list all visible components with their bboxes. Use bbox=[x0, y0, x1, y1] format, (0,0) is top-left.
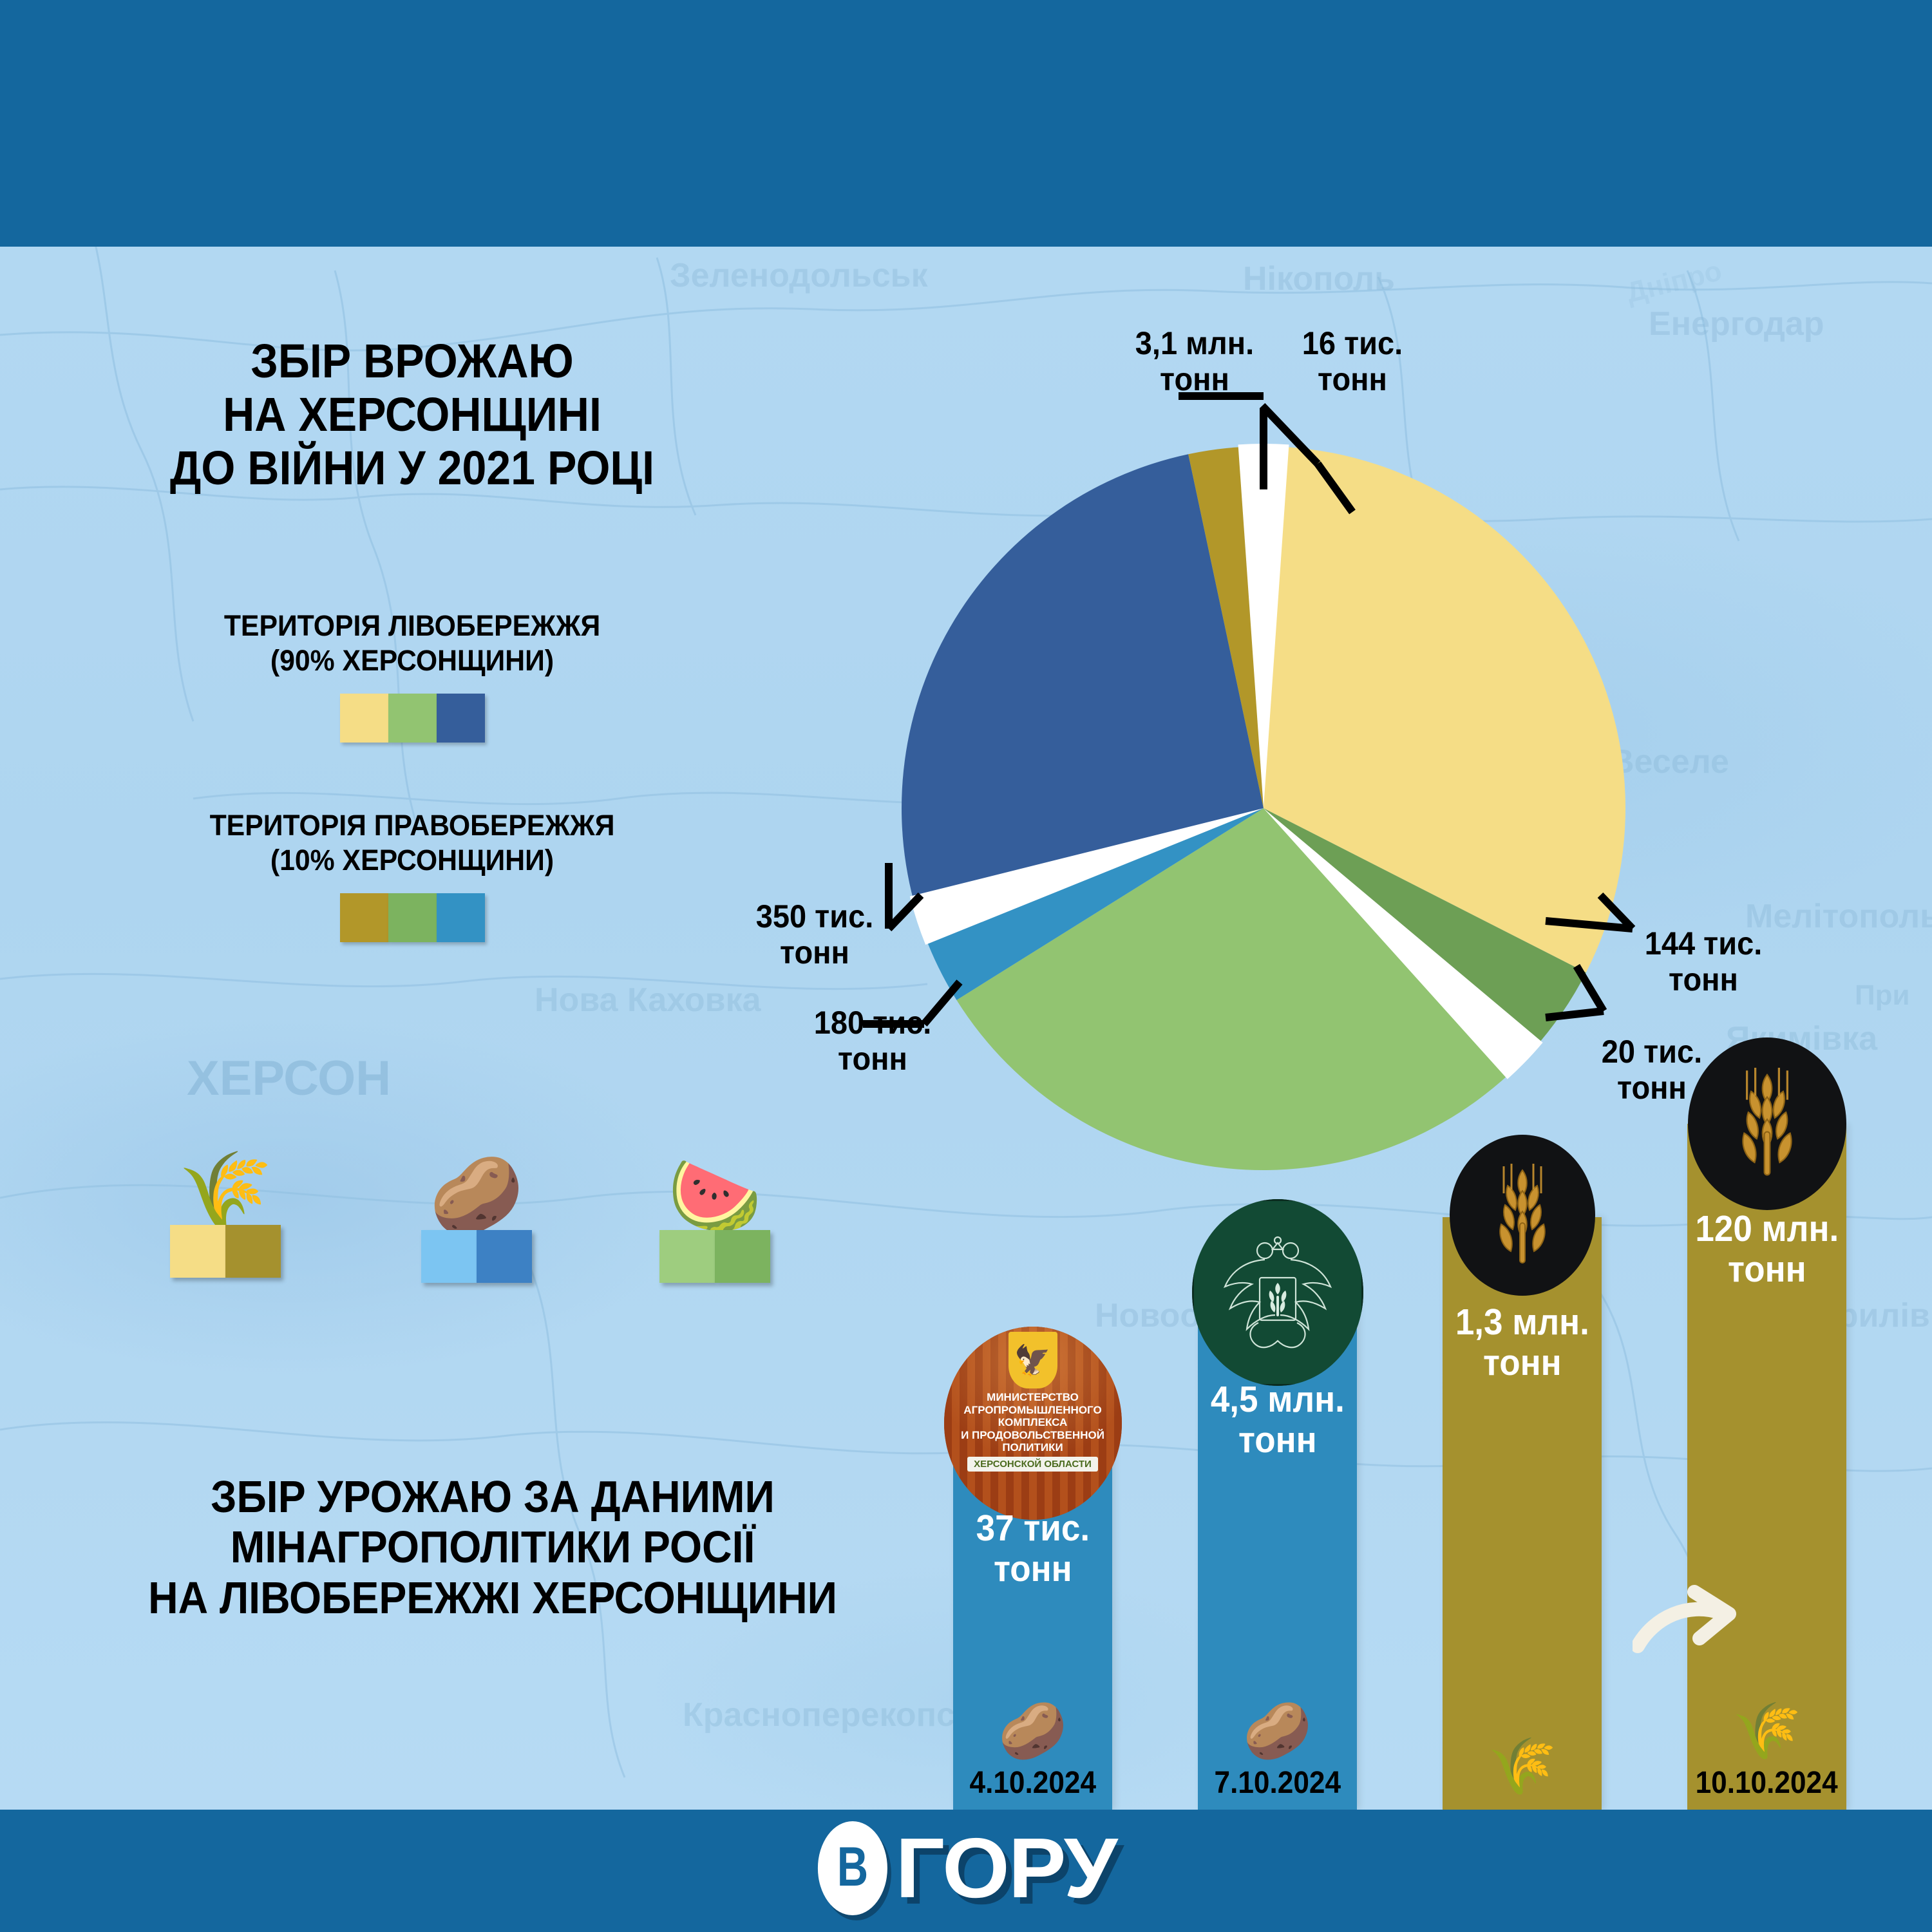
legend-right-bank-swatches bbox=[122, 893, 702, 942]
pie-label-20-tys: 20 тис. тонн bbox=[1573, 1034, 1730, 1106]
bottom-heading-line-1: ЗБІР УРОЖАЮ ЗА ДАНИМИ bbox=[104, 1472, 880, 1522]
pie-label-180-tys: 180 тис. тонн bbox=[785, 1005, 961, 1077]
legend-swatch-melon bbox=[388, 893, 437, 942]
potato-icon: 🥔 bbox=[1243, 1703, 1312, 1759]
russia-minselhoz-emblem bbox=[1192, 1199, 1363, 1386]
harvest-pie-chart bbox=[902, 444, 1629, 1172]
pie-label-350-tys: 350 тис. тонн bbox=[727, 898, 903, 971]
legend-left-bank: ТЕРИТОРІЯ ЛІВОБЕРЕЖЖЯ (90% ХЕРСОНЩИНИ) bbox=[122, 609, 702, 743]
crop-swatch-right-bank bbox=[421, 1230, 477, 1283]
legend-left-bank-swatches bbox=[122, 694, 702, 743]
legend-swatch-potato bbox=[437, 694, 485, 743]
bottom-heading-line-3: НА ЛІВОБЕРЕЖЖІ ХЕРСОНЩИНИ bbox=[104, 1573, 880, 1623]
legend-swatch-wheat bbox=[340, 893, 388, 942]
crop-key-wheat: 🌾 bbox=[129, 1153, 322, 1278]
legend-right-bank: ТЕРИТОРІЯ ПРАВОБЕРЕЖЖЯ (10% ХЕРСОНЩИНИ) bbox=[122, 808, 702, 942]
svg-text:Нікополь: Нікополь bbox=[1243, 260, 1395, 298]
watermelon-icon: 🍉 bbox=[541, 1158, 889, 1234]
bar-value-label: 1,3 млн. тонн bbox=[1455, 1302, 1589, 1383]
logo-badge-v: В bbox=[818, 1821, 887, 1915]
svg-text:При: При bbox=[1855, 980, 1910, 1011]
legend-swatch-melon bbox=[388, 694, 437, 743]
bar-column: 120 млн. тонн 🌾 10.10.2024 bbox=[1687, 1124, 1846, 1810]
legend-right-bank-line-1: ТЕРИТОРІЯ ПРАВОБЕРЕЖЖЯ bbox=[137, 808, 688, 843]
legend-left-bank-line-1: ТЕРИТОРІЯ ЛІВОБЕРЕЖЖЯ bbox=[137, 609, 688, 643]
crop-key-watermelon-swatches bbox=[541, 1230, 889, 1283]
growth-arrow-icon bbox=[1633, 1579, 1742, 1656]
left-section-heading: ЗБІР ВРОЖАЮ НА ХЕРСОНЩИНІ ДО ВІЙНИ У 202… bbox=[128, 335, 696, 495]
bar-column: 4,5 млн. тонн 🥔 7.10.2024 bbox=[1198, 1294, 1357, 1810]
legend-swatch-potato bbox=[437, 893, 485, 942]
bottom-heading-line-2: МІНАГРОПОЛІТИКИ РОСІЇ bbox=[104, 1522, 880, 1572]
legend-right-bank-line-2: (10% ХЕРСОНЩИНИ) bbox=[137, 843, 688, 878]
left-heading-line-2: НА ХЕРСОНЩИНІ bbox=[128, 388, 696, 442]
crop-swatch-left-bank bbox=[659, 1230, 715, 1283]
bar-value-label: 4,5 млн. тонн bbox=[1210, 1379, 1344, 1460]
bar-value-label: 37 тис. тонн bbox=[976, 1508, 1089, 1589]
double-eagle-icon: 🦅 bbox=[1009, 1332, 1057, 1388]
legend-right-bank-label: ТЕРИТОРІЯ ПРАВОБЕРЕЖЖЯ (10% ХЕРСОНЩИНИ) bbox=[137, 808, 688, 878]
bar-date-label: 7.10.2024 bbox=[1214, 1765, 1340, 1801]
vgoru-logo[interactable]: В ГОРУ bbox=[818, 1821, 1114, 1915]
svg-text:Зеленодольськ: Зеленодольськ bbox=[670, 257, 929, 294]
ministry-agro-kherson-emblem: 🦅 МИНИСТЕРСТВО АГРОПРОМЫШЛЕННОГО КОМПЛЕК… bbox=[944, 1327, 1122, 1520]
bottom-section-heading: ЗБІР УРОЖАЮ ЗА ДАНИМИ МІНАГРОПОЛІТИКИ РО… bbox=[104, 1472, 880, 1623]
svg-text:Дніпро: Дніпро bbox=[1624, 255, 1725, 309]
pie-label-16-tys: 16 тис. тонн bbox=[1277, 325, 1428, 397]
russia-data-bar-chart: 🦅 МИНИСТЕРСТВО АГРОПРОМЫШЛЕННОГО КОМПЛЕК… bbox=[953, 1108, 1868, 1810]
pie-label-144-tys: 144 тис. тонн bbox=[1616, 925, 1792, 998]
wheat-icon: 🌾 bbox=[129, 1153, 322, 1229]
bar-column: 1,3 млн. тонн 🌾 bbox=[1443, 1217, 1602, 1810]
logo-wordmark: ГОРУ bbox=[896, 1826, 1117, 1911]
crop-key-wheat-swatches bbox=[129, 1225, 322, 1278]
bar-column: 🦅 МИНИСТЕРСТВО АГРОПРОМЫШЛЕННОГО КОМПЛЕК… bbox=[953, 1423, 1112, 1810]
left-heading-line-3: ДО ВІЙНИ У 2021 РОЦІ bbox=[128, 442, 696, 495]
crop-swatch-right-bank bbox=[225, 1225, 281, 1278]
bar-date-label: 10.10.2024 bbox=[1696, 1765, 1838, 1801]
crop-swatch-left-bank bbox=[477, 1230, 532, 1283]
svg-text:Енергодар: Енергодар bbox=[1649, 305, 1824, 343]
left-heading-line-1: ЗБІР ВРОЖАЮ bbox=[128, 335, 696, 388]
svg-text:Нова Каховка: Нова Каховка bbox=[535, 981, 762, 1019]
legend-swatch-wheat bbox=[340, 694, 388, 743]
pie-label-3-1-mln: 3,1 млн. тонн bbox=[1104, 325, 1285, 397]
crop-swatch-right-bank bbox=[715, 1230, 770, 1283]
legend-left-bank-label: ТЕРИТОРІЯ ЛІВОБЕРЕЖЖЯ (90% ХЕРСОНЩИНИ) bbox=[137, 609, 688, 678]
svg-text:ХЕРСОН: ХЕРСОН bbox=[187, 1051, 391, 1106]
pie-slices bbox=[902, 444, 1625, 1170]
crop-key-watermelon: 🍉 bbox=[541, 1158, 889, 1283]
header-band bbox=[0, 0, 1932, 247]
crop-swatch-left-bank bbox=[170, 1225, 225, 1278]
bar-value-label: 120 млн. тонн bbox=[1695, 1209, 1839, 1289]
wheat-icon: 🌾 bbox=[1732, 1703, 1801, 1759]
bar-date-label: 4.10.2024 bbox=[969, 1765, 1095, 1801]
wheat-icon bbox=[1468, 1156, 1577, 1275]
potato-icon: 🥔 bbox=[998, 1703, 1067, 1759]
legend-left-bank-line-2: (90% ХЕРСОНЩИНИ) bbox=[137, 643, 688, 678]
wheat-icon: 🌾 bbox=[1488, 1739, 1557, 1794]
svg-text:Красноперекопськ: Красноперекопськ bbox=[683, 1696, 993, 1734]
wheat-circle-emblem bbox=[1450, 1135, 1595, 1296]
